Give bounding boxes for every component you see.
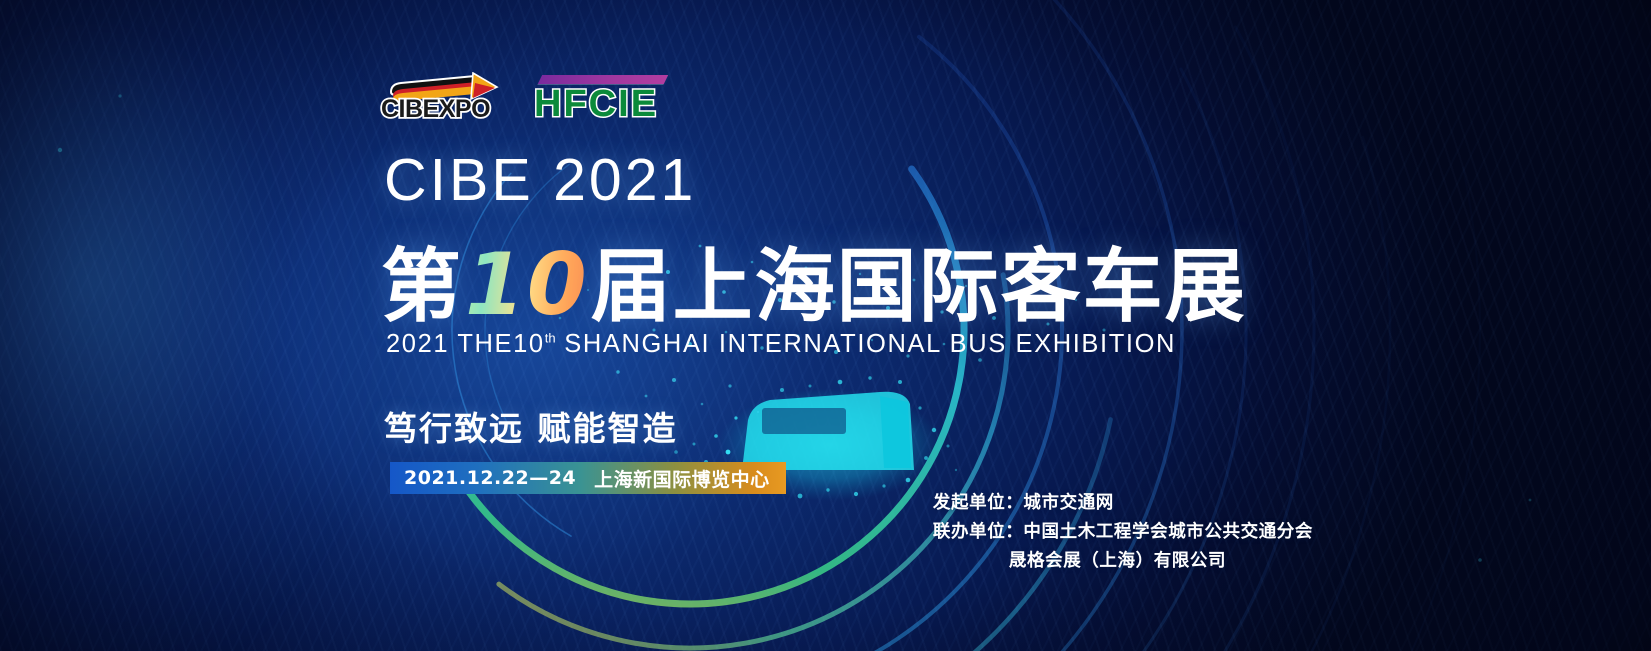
subtitle-rest: SHANGHAI INTERNATIONAL BUS EXHIBITION — [556, 330, 1176, 358]
organizer-value-2: 中国土木工程学会城市公共交通分会 — [1023, 522, 1313, 542]
headline-suffix: 届上海国际客车展 — [591, 240, 1247, 333]
subtitle-prefix: 2021 THE10 — [386, 330, 545, 358]
organizer-label-1: 发起单位： — [933, 493, 1024, 513]
badge-date: 2021.12.22—24 — [404, 467, 576, 489]
hfcie-letter-e: E — [631, 85, 656, 123]
exhibition-banner: CIBEXPO H F C I E CIBE 2021 第10届上海国际客车展 … — [0, 0, 1651, 651]
headline-prefix: 第 — [381, 240, 463, 333]
hfcie-letters: H F C I E — [534, 85, 656, 123]
headline-chinese: 第10届上海国际客车展 — [381, 222, 1247, 338]
headline-edition-number: 10 — [463, 235, 591, 335]
cibexpo-logo[interactable]: CIBEXPO — [381, 72, 500, 124]
slogan-text: 笃行致远 赋能智造 — [384, 402, 678, 450]
subtitle-ordinal-suffix: th — [545, 331, 556, 346]
hfcie-letter-h: H — [534, 85, 561, 123]
subtitle-english: 2021 THE10th SHANGHAI INTERNATIONAL BUS … — [386, 330, 1176, 359]
organizer-line-3: 晟格会展（上海）有限公司 — [933, 547, 1313, 576]
cibexpo-wordmark: CIBEXPO — [381, 95, 490, 124]
badge-venue: 上海新国际博览中心 — [594, 465, 770, 492]
organizer-label-2: 联办单位： — [933, 522, 1024, 542]
headline-english: CIBE 2021 — [384, 146, 696, 214]
organizer-value-3: 晟格会展（上海）有限公司 — [1009, 551, 1226, 571]
logo-row: CIBEXPO H F C I E — [381, 72, 656, 124]
hfcie-letter-i: I — [618, 85, 629, 123]
organizer-block: 发起单位：城市交通网 联办单位：中国土木工程学会城市公共交通分会 晟格会展（上海… — [933, 489, 1313, 576]
organizer-line-1: 发起单位：城市交通网 — [933, 489, 1313, 518]
hfcie-logo[interactable]: H F C I E — [534, 73, 656, 123]
organizer-value-1: 城市交通网 — [1023, 493, 1114, 513]
hfcie-letter-f: F — [563, 85, 586, 123]
date-venue-badge: 2021.12.22—24 上海新国际博览中心 — [390, 462, 786, 494]
organizer-line-2: 联办单位：中国土木工程学会城市公共交通分会 — [933, 518, 1313, 547]
hfcie-letter-c: C — [589, 85, 616, 123]
